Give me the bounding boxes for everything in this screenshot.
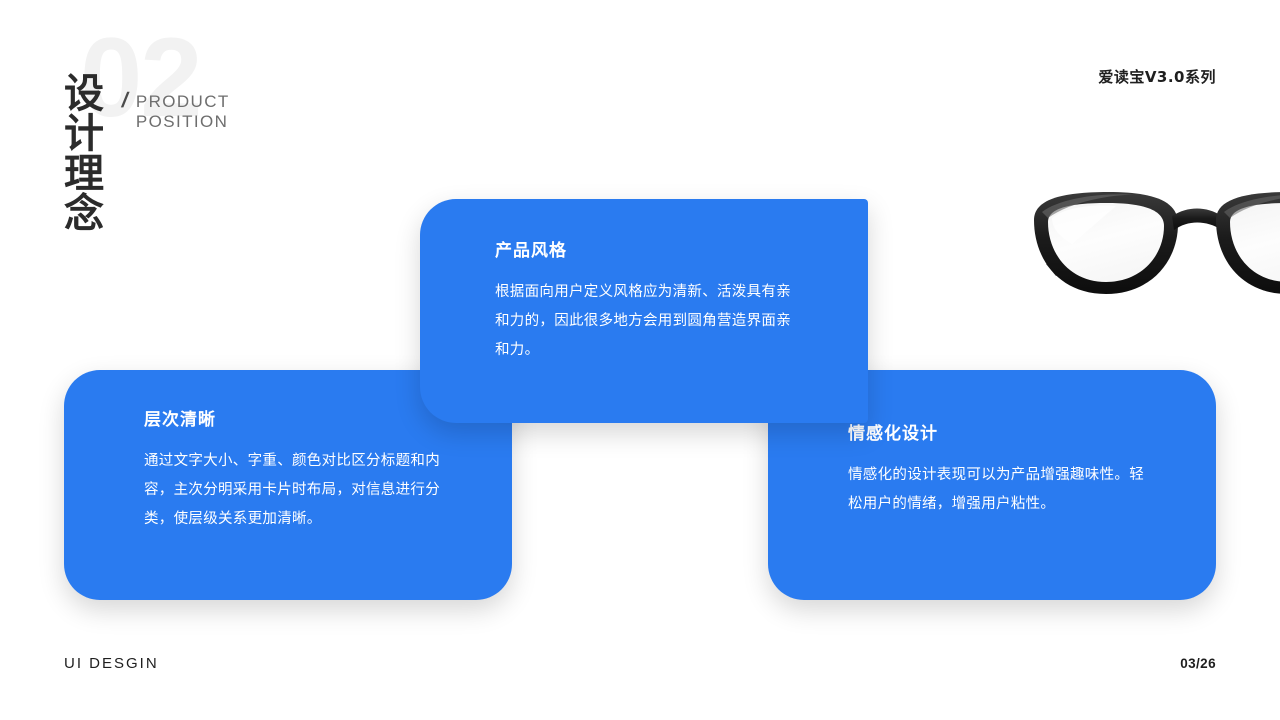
- page-title: 设计理念: [64, 74, 106, 234]
- page-subtitle: PRODUCT POSITION: [136, 92, 230, 132]
- card-emotional-design-content: 情感化设计 情感化的设计表现可以为产品增强趣味性。轻松用户的情绪，增强用户粘性。: [848, 426, 1153, 519]
- card-product-style-body: 根据面向用户定义风格应为清新、活泼具有亲和力的，因此很多地方会用到圆角营造界面亲…: [495, 278, 795, 365]
- slide-canvas: 02 设计理念 / PRODUCT POSITION 爱读宝V3.0系列: [0, 0, 1280, 720]
- card-hierarchy-content: 层次清晰 通过文字大小、字重、颜色对比区分标题和内容，主次分明采用卡片时布局，对…: [144, 412, 444, 534]
- card-hierarchy-body: 通过文字大小、字重、颜色对比区分标题和内容，主次分明采用卡片时布局，对信息进行分…: [144, 447, 444, 534]
- card-product-style[interactable]: 产品风格 根据面向用户定义风格应为清新、活泼具有亲和力的，因此很多地方会用到圆角…: [420, 199, 868, 423]
- brand-label: 爱读宝V3.0系列: [1098, 66, 1216, 87]
- card-emotional-design-title: 情感化设计: [848, 426, 1153, 443]
- card-hierarchy-title: 层次清晰: [144, 412, 444, 429]
- card-product-style-content: 产品风格 根据面向用户定义风格应为清新、活泼具有亲和力的，因此很多地方会用到圆角…: [495, 243, 795, 365]
- page-number-indicator: 03/26: [1180, 656, 1216, 671]
- card-emotional-design-body: 情感化的设计表现可以为产品增强趣味性。轻松用户的情绪，增强用户粘性。: [848, 461, 1153, 519]
- title-separator: /: [119, 89, 130, 113]
- eyeglasses-image: [1012, 172, 1280, 322]
- footer-brand-label: UI DESGIN: [64, 655, 159, 672]
- card-product-style-title: 产品风格: [495, 243, 795, 260]
- eyeglasses-icon: [1012, 172, 1280, 322]
- header-title-row: 设计理念 / PRODUCT POSITION: [64, 74, 229, 234]
